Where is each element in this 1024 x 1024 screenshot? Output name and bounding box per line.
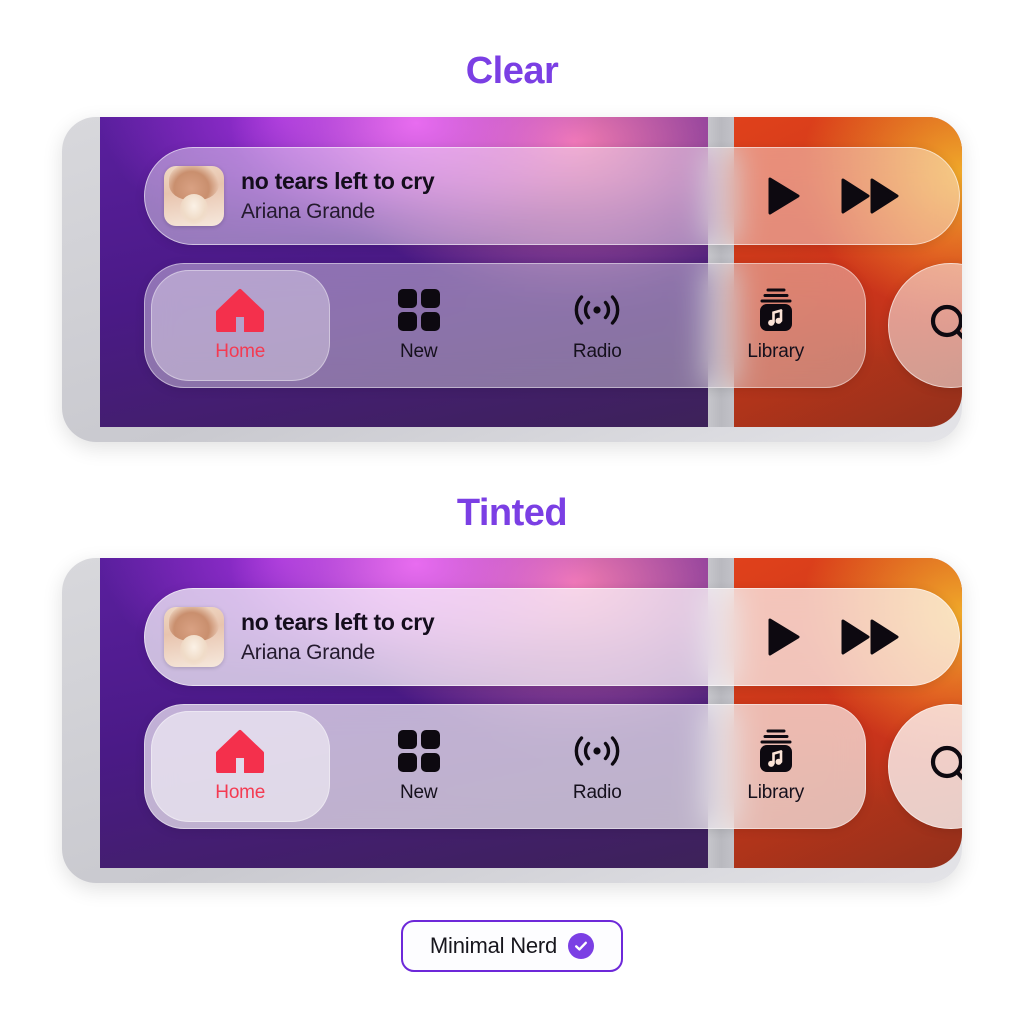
tab-bar: Home New bbox=[144, 263, 866, 388]
home-icon bbox=[216, 729, 264, 773]
now-playing-bar[interactable]: no tears left to cry Ariana Grande bbox=[144, 588, 960, 686]
page-root: Clear no tears left to cry Ariana Grande bbox=[0, 0, 1024, 1024]
tab-new[interactable]: New bbox=[330, 705, 509, 828]
tab-bar: Home New bbox=[144, 704, 866, 829]
verified-check-icon bbox=[568, 933, 594, 959]
library-icon bbox=[754, 729, 798, 773]
grid-icon bbox=[397, 288, 441, 332]
wallpaper: no tears left to cry Ariana Grande bbox=[100, 558, 962, 868]
footer-badge[interactable]: Minimal Nerd bbox=[401, 920, 623, 972]
tab-new-label: New bbox=[400, 341, 437, 363]
now-playing-bar[interactable]: no tears left to cry Ariana Grande bbox=[144, 147, 960, 245]
footer-badge-label: Minimal Nerd bbox=[430, 933, 557, 959]
radio-icon bbox=[570, 288, 624, 332]
play-icon bbox=[767, 618, 801, 656]
fast-forward-icon bbox=[841, 177, 901, 215]
tab-library[interactable]: Library bbox=[687, 264, 866, 387]
album-art bbox=[164, 607, 224, 667]
preview-card-clear: no tears left to cry Ariana Grande bbox=[62, 117, 962, 442]
fast-forward-icon bbox=[841, 618, 901, 656]
track-meta: no tears left to cry Ariana Grande bbox=[241, 610, 434, 664]
wallpaper: no tears left to cry Ariana Grande bbox=[100, 117, 962, 427]
tab-new-label: New bbox=[400, 782, 437, 804]
home-icon bbox=[216, 288, 264, 332]
tab-new[interactable]: New bbox=[330, 264, 509, 387]
tab-home-label: Home bbox=[215, 341, 265, 363]
tab-radio[interactable]: Radio bbox=[508, 705, 687, 828]
radio-icon bbox=[570, 729, 624, 773]
tab-radio[interactable]: Radio bbox=[508, 264, 687, 387]
search-icon bbox=[925, 741, 962, 793]
track-artist: Ariana Grande bbox=[241, 641, 434, 665]
track-artist: Ariana Grande bbox=[241, 200, 434, 224]
transport-controls bbox=[767, 177, 901, 215]
play-icon bbox=[767, 177, 801, 215]
tab-home[interactable]: Home bbox=[151, 270, 330, 381]
track-title: no tears left to cry bbox=[241, 610, 434, 636]
play-button[interactable] bbox=[767, 618, 801, 656]
tab-home[interactable]: Home bbox=[151, 711, 330, 822]
track-meta: no tears left to cry Ariana Grande bbox=[241, 169, 434, 223]
fast-forward-button[interactable] bbox=[841, 177, 901, 215]
tab-library-label: Library bbox=[747, 782, 804, 804]
section-title-clear: Clear bbox=[0, 50, 1024, 93]
tab-radio-label: Radio bbox=[573, 341, 622, 363]
library-icon bbox=[754, 288, 798, 332]
tab-library[interactable]: Library bbox=[687, 705, 866, 828]
tab-home-label: Home bbox=[215, 782, 265, 804]
search-icon bbox=[925, 300, 962, 352]
section-title-tinted: Tinted bbox=[0, 492, 1024, 535]
fast-forward-button[interactable] bbox=[841, 618, 901, 656]
transport-controls bbox=[767, 618, 901, 656]
track-title: no tears left to cry bbox=[241, 169, 434, 195]
play-button[interactable] bbox=[767, 177, 801, 215]
tab-radio-label: Radio bbox=[573, 782, 622, 804]
preview-card-tinted: no tears left to cry Ariana Grande bbox=[62, 558, 962, 883]
grid-icon bbox=[397, 729, 441, 773]
tab-library-label: Library bbox=[747, 341, 804, 363]
album-art bbox=[164, 166, 224, 226]
